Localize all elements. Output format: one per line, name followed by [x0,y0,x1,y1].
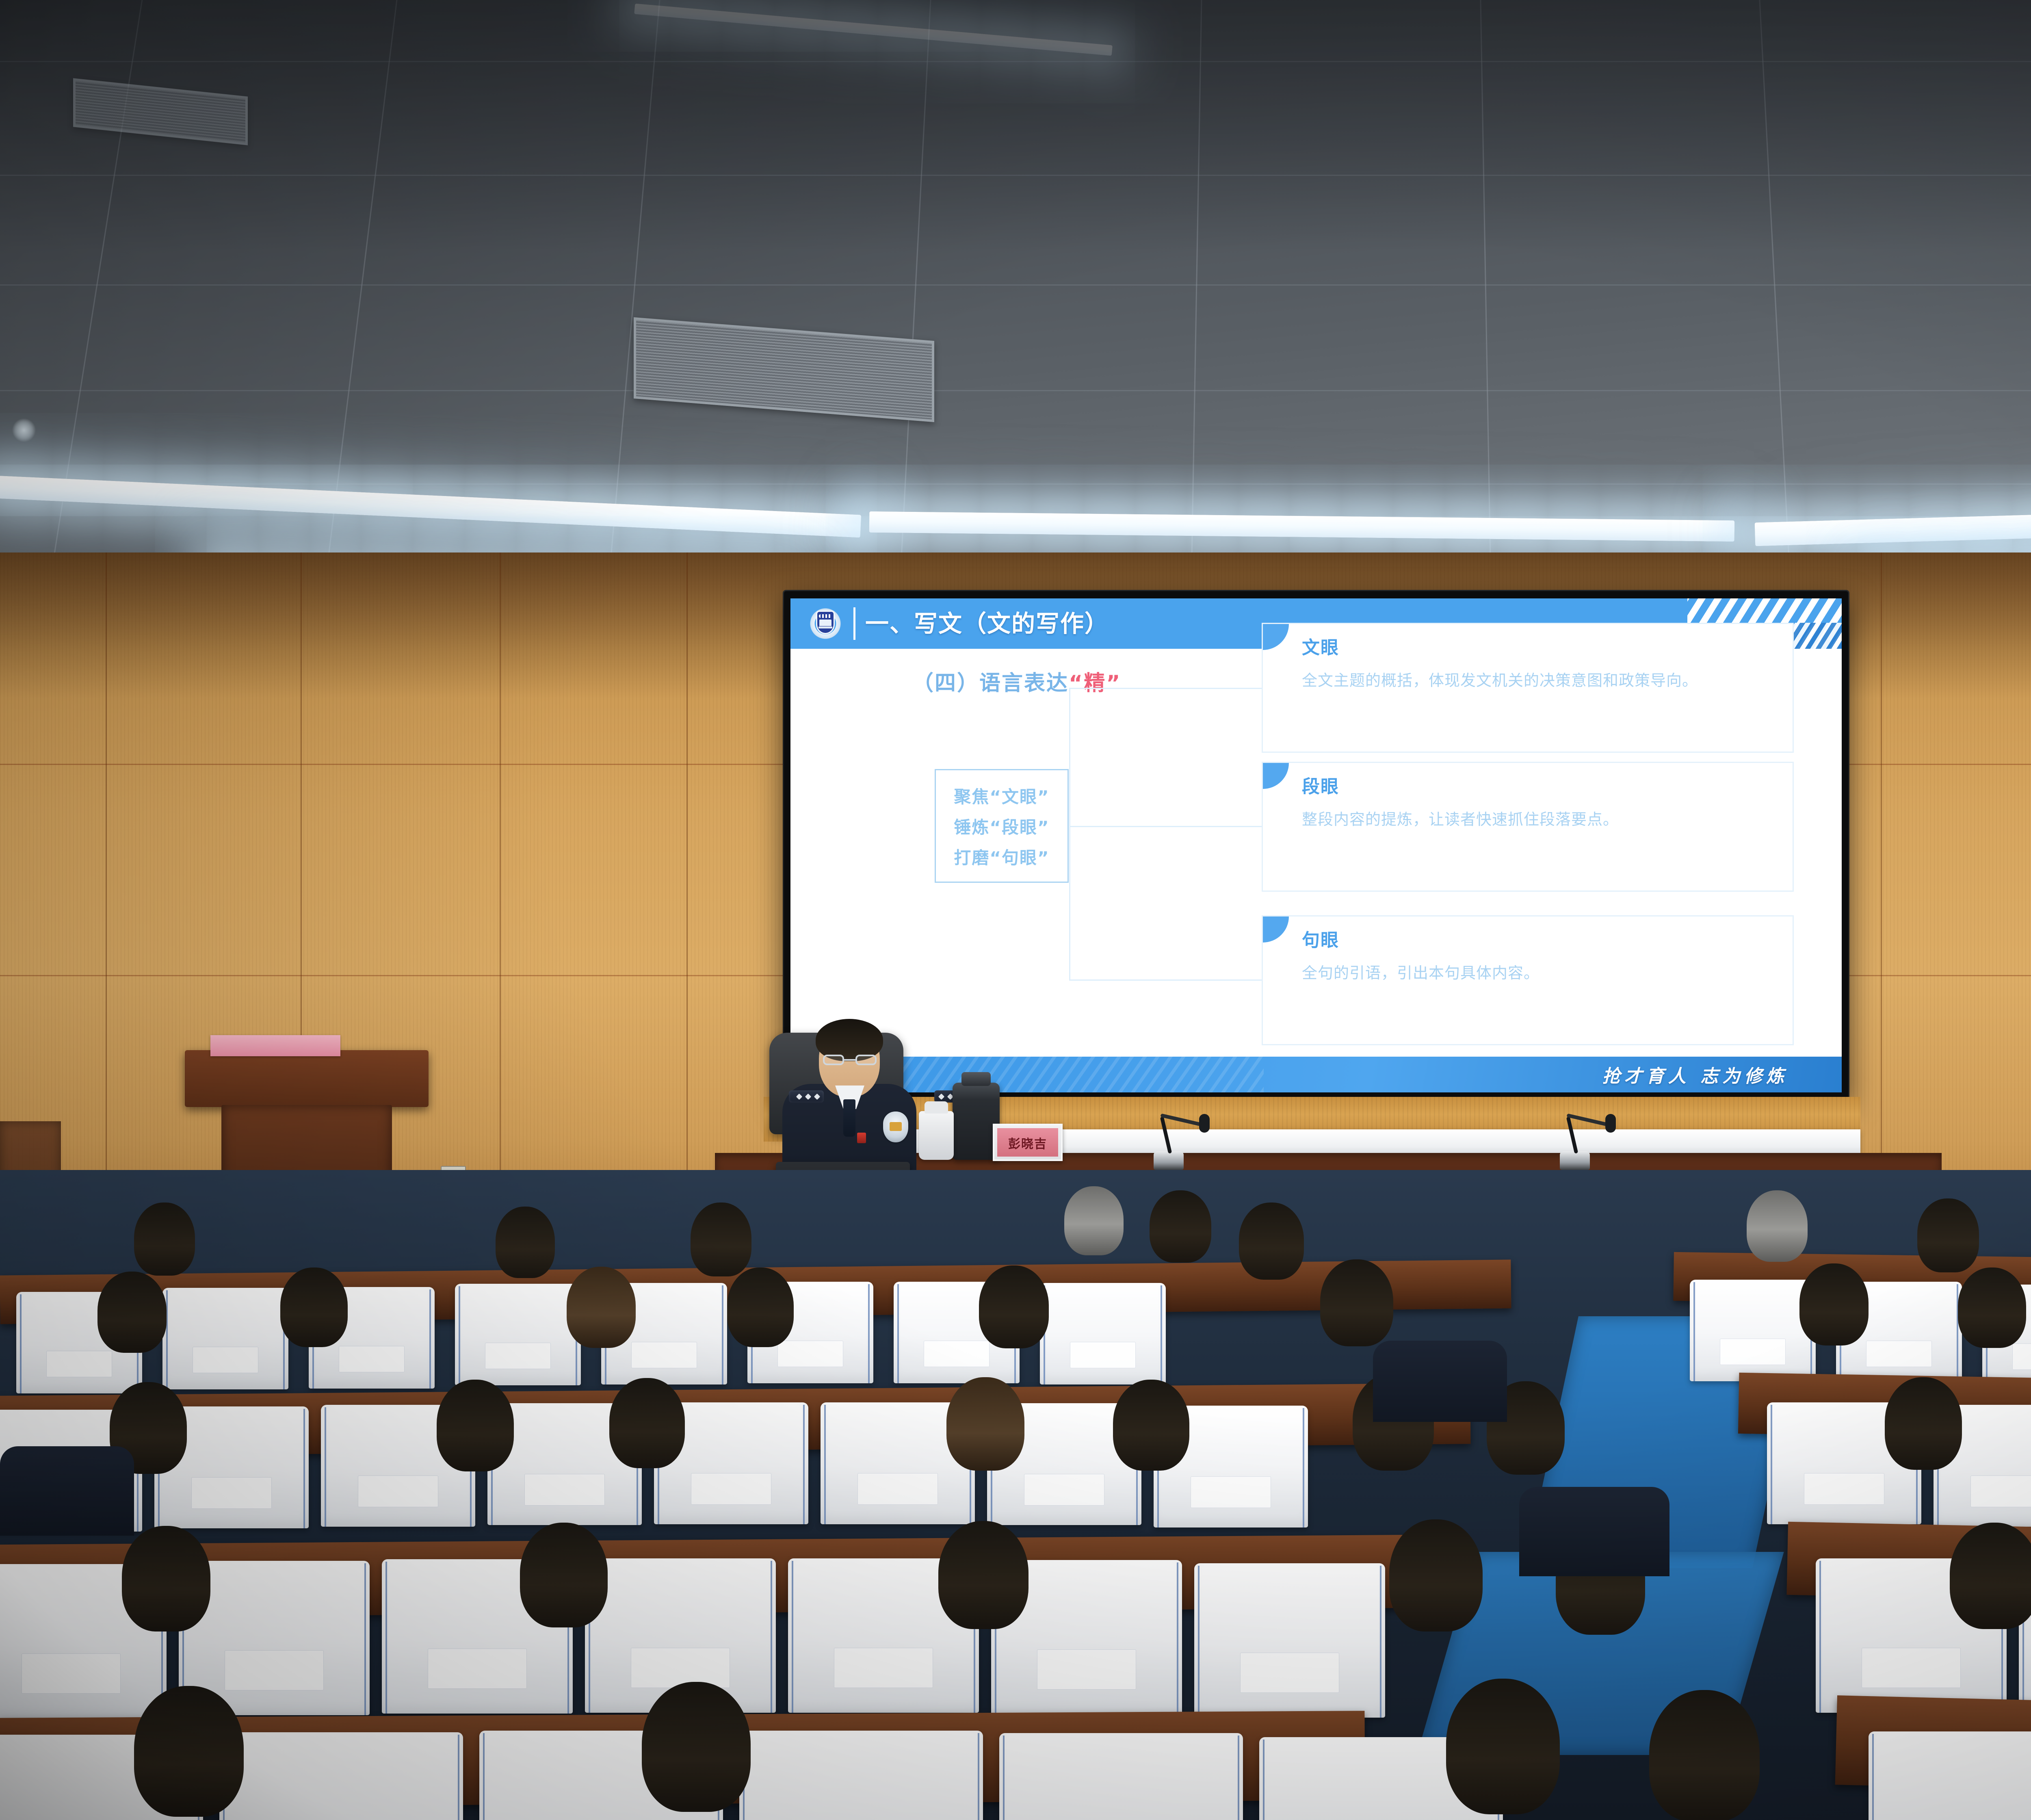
left-box-line-1: 聚焦“文眼” [954,783,1049,808]
presenter-police-badge-icon [883,1111,908,1142]
audience-head [496,1207,555,1278]
audience-shoulders [1519,1487,1669,1576]
audience-chair [739,1731,983,1820]
audience-head [97,1272,167,1353]
podium-top [185,1050,429,1107]
presenter-necktie [843,1099,855,1137]
audience-head [122,1526,210,1631]
name-card-text: 彭晓吉 [997,1134,1058,1152]
presenter-party-pin-icon [857,1133,866,1143]
audience-head [1064,1186,1124,1255]
audience-chair [455,1284,581,1385]
audience-head [946,1377,1024,1471]
card-body: 整段内容的提炼，让读者快速抓住段落要点。 [1302,808,1776,830]
card-body: 全文主题的概括，体现发文机关的决策意图和政策导向。 [1302,669,1776,691]
paper-cup[interactable] [919,1111,954,1160]
slide-subtitle-accent: “精” [1069,671,1121,695]
card-title: 段眼 [1302,772,1339,798]
presenter-epaulet-left [789,1090,824,1103]
audience-head [520,1523,608,1627]
audience-head [727,1267,794,1347]
card-title: 文眼 [1302,633,1339,659]
audience-chair [162,1288,288,1389]
audience-head [1950,1523,2031,1629]
audience-head [1446,1679,1560,1814]
audience-head [642,1682,751,1812]
audience-head [280,1267,348,1347]
card-corner-marker-icon [1263,763,1289,789]
audience-head [1649,1690,1760,1820]
audience-chair [1690,1280,1816,1381]
audience-head [1113,1380,1189,1471]
connector-branch-2 [1069,826,1262,827]
audience-chair [999,1733,1243,1820]
slide-left-summary-box: 聚焦“文眼” 锤炼“段眼” 打磨“句眼” [935,769,1069,883]
audience-shoulders [1373,1341,1507,1422]
podium-banner [210,1035,340,1056]
audience-head [1150,1190,1211,1263]
card-corner-marker-icon [1263,916,1289,942]
screen-surface: 一、写文（文的写作） （四）语言表达“精” 聚焦“文眼” 锤炼“段眼” 打磨“句… [790,598,1842,1092]
slide-card-juyan: 句眼 全句的引语，引出本句具体内容。 [1262,915,1794,1045]
slide-card-duanyan: 段眼 整段内容的提炼，让读者快速抓住段落要点。 [1262,762,1794,892]
card-body: 全句的引语，引出本句具体内容。 [1302,962,1776,984]
audience-head [134,1202,195,1276]
audience-head [979,1265,1049,1348]
audience-head [1958,1267,2026,1348]
lecture-hall-photo: 一、写文（文的写作） （四）语言表达“精” 聚焦“文眼” 锤炼“段眼” 打磨“句… [0,0,2031,1820]
ceiling [0,0,2031,593]
projection-screen: 一、写文（文的写作） （四）语言表达“精” 聚焦“文眼” 锤炼“段眼” 打磨“句… [784,591,1848,1099]
card-title: 句眼 [1302,925,1339,951]
gooseneck-microphone[interactable] [1560,1097,1621,1170]
presenter-name-card: 彭晓吉 [993,1124,1063,1161]
audience-head [1917,1198,1979,1272]
audience-chair [1869,1731,2031,1820]
card-corner-marker-icon [1263,624,1289,650]
audience-chair [1040,1283,1166,1384]
slide-card-wenyan: 文眼 全文主题的概括，体现发文机关的决策意图和政策导向。 [1262,623,1794,753]
audience-chair [1194,1563,1385,1718]
presentation-slide: 一、写文（文的写作） （四）语言表达“精” 聚焦“文眼” 锤炼“段眼” 打磨“句… [790,598,1842,1092]
audience-shoulders [0,1446,134,1536]
left-box-line-2: 锤炼“段眼” [954,814,1049,838]
slide-footer-motto: 抢才育人 志为修炼 [1602,1062,1788,1088]
connector-branch-3 [1069,979,1262,981]
audience-head [567,1267,636,1348]
left-box-line-3: 打磨“句眼” [954,844,1049,869]
audience-head [938,1521,1028,1629]
name-card-inner: 彭晓吉 [997,1128,1058,1157]
audience-head [134,1686,244,1817]
audience-head [1389,1519,1483,1631]
audience-chair [219,1732,463,1820]
china-police-emblem-icon [808,607,842,641]
ceiling-spotlight [12,418,36,442]
audience-head [1747,1190,1808,1262]
audience-head [1885,1377,1962,1470]
slide-header-title: 一、写文（文的写作） [865,610,1109,637]
slide-subtitle-prefix: （四）语言表达 [912,671,1069,695]
audience-head [1799,1263,1869,1345]
audience-head [691,1202,751,1276]
connector-branch-1 [1069,688,1262,689]
slide-subtitle: （四）语言表达“精” [912,666,1121,696]
audience-head [1239,1202,1304,1280]
connector-trunk [1069,688,1070,980]
audience-head [1320,1259,1393,1346]
audience-head [609,1378,685,1468]
presenter-glasses-icon [823,1055,877,1065]
audience-head [437,1380,514,1471]
gooseneck-microphone[interactable] [1154,1097,1215,1170]
header-divider [853,607,855,640]
